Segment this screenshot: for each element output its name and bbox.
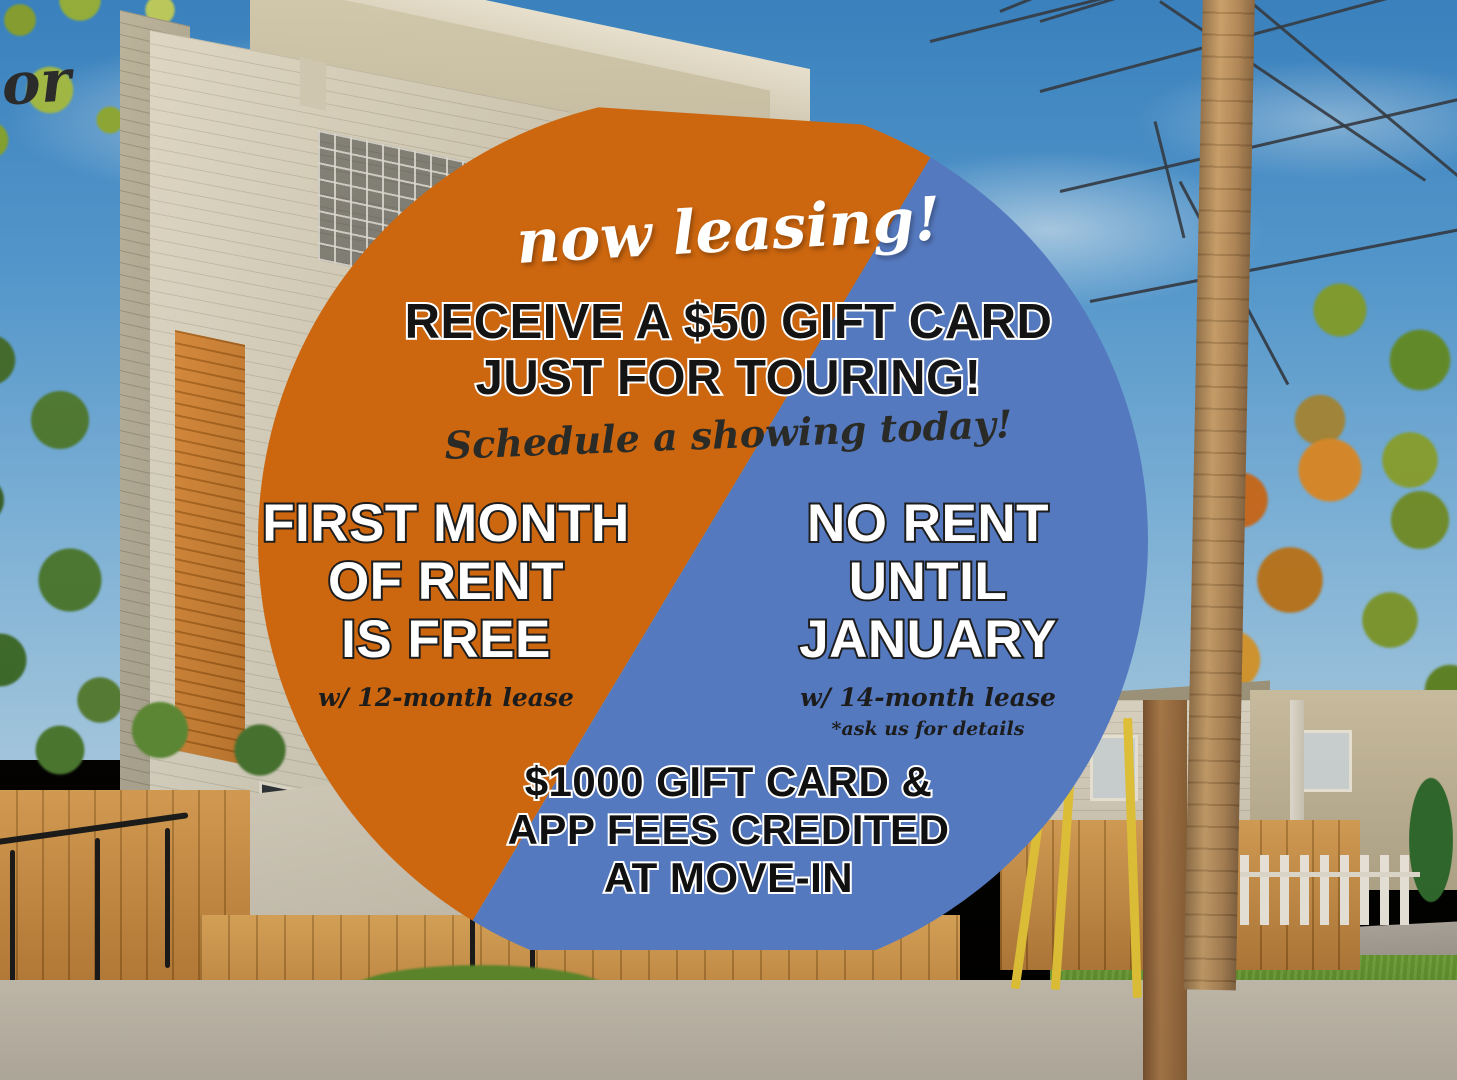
offer-right-terms: w/ 14-month lease [778, 683, 1078, 712]
offer-left-line-2: OF RENT [236, 553, 656, 611]
offer-right-disclaimer: *ask us for details [778, 718, 1078, 740]
offer-left-terms: w/ 12-month lease [236, 683, 656, 712]
footer-line-2: APP FEES CREDITED [0, 806, 1457, 854]
promo-flyer: now leasing! RECEIVE A $50 GIFT CARD JUS… [0, 0, 1457, 1080]
offer-headline-line-1: RECEIVE A $50 GIFT CARD [0, 294, 1457, 350]
offer-left-line-1: FIRST MONTH [236, 495, 656, 553]
offer-right-column: NO RENT UNTIL JANUARY w/ 14-month lease … [778, 495, 1078, 740]
offer-headline: RECEIVE A $50 GIFT CARD JUST FOR TOURING… [0, 294, 1457, 406]
brand-circle-svg [0, 0, 1457, 1080]
offer-right-line-1: NO RENT [778, 495, 1078, 553]
offer-right-line-2: UNTIL [778, 553, 1078, 611]
footer-line-3: AT MOVE-IN [0, 854, 1457, 902]
offer-left-column: FIRST MONTH OF RENT IS FREE w/ 12-month … [236, 495, 656, 712]
brand-circle [0, 0, 1457, 1080]
offer-left-line-3: IS FREE [236, 611, 656, 669]
footer-offer: $1000 GIFT CARD & APP FEES CREDITED AT M… [0, 758, 1457, 902]
offer-right-line-3: JANUARY [778, 611, 1078, 669]
footer-line-1: $1000 GIFT CARD & [0, 758, 1457, 806]
